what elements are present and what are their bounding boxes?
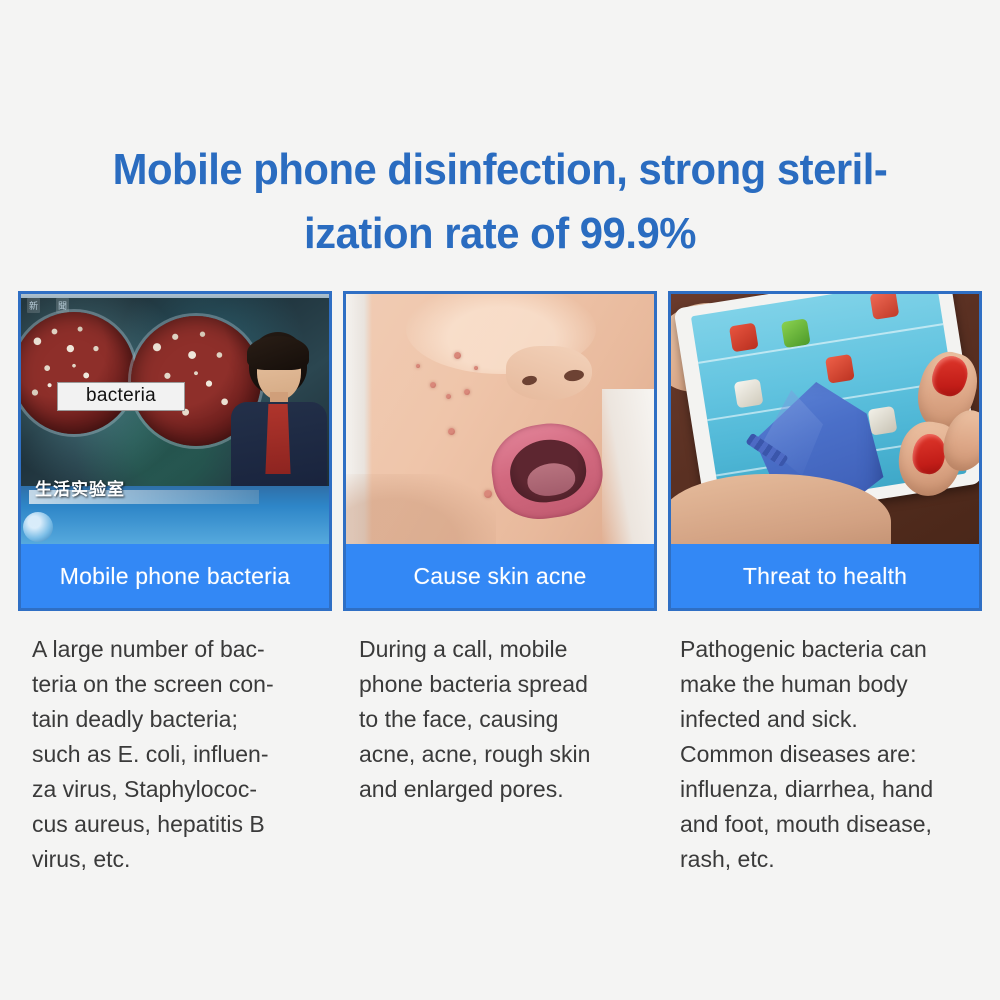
description-line: infected and sick. [680,702,982,737]
headline-line-2: ization rate of 99.9% [25,202,975,266]
description-line: During a call, mobile [359,632,661,667]
description-line: A large number of bac- [32,632,334,667]
description-line: tain deadly bacteria; [32,702,334,737]
description-line: influenza, diarrhea, hand [680,772,982,807]
tongue [525,460,577,498]
acne-spot [446,394,451,399]
description-line: such as E. coli, influen- [32,737,334,772]
app-icon [734,379,764,409]
tv-news-scene: 新 聞 生活实验室 [21,294,329,544]
infographic-page: Mobile phone disinfection, strong steril… [0,0,1000,1000]
news-anchor-figure [223,332,329,512]
page-title: Mobile phone disinfection, strong steril… [25,138,975,266]
description-line: Common diseases are: [680,737,982,772]
description-line: cus aureus, hepatitis B [32,807,334,842]
tv-logo-char-2: 聞 [56,298,69,313]
acne-spot [464,389,470,395]
panel-2-image [346,294,654,544]
petri-dish-left-icon [21,312,135,434]
app-icon [781,318,811,348]
panel-2-caption: Cause skin acne [346,544,654,608]
panel-threat-to-health: Threat to health [668,291,982,611]
background-right [602,389,654,544]
description-line: teria on the screen con- [32,667,334,702]
description-line: rash, etc. [680,842,982,877]
tv-channel-logo-icon: 新 聞 [27,298,69,313]
description-line: to the face, causing [359,702,661,737]
acne-spot [416,364,420,368]
app-icon [729,323,759,353]
description-line: acne, acne, rough skin [359,737,661,772]
news-desk-surface [21,294,329,298]
bacteria-overlay-label: bacteria [57,382,185,411]
acne-spot [430,382,436,388]
panel-mobile-phone-bacteria: 新 聞 生活实验室 [18,291,332,611]
chin-shadow [346,474,496,544]
tv-logo-char-1: 新 [27,298,40,313]
description-line: za virus, Staphylococ- [32,772,334,807]
face-acne-scene [346,294,654,544]
panel-1-caption: Mobile phone bacteria [21,544,329,608]
description-line: Pathogenic bacteria can [680,632,982,667]
description-line: phone bacteria spread [359,667,661,702]
panel-row: 新 聞 生活实验室 [18,291,982,611]
acne-spot [448,428,455,435]
headline-line-1: Mobile phone disinfection, strong steril… [25,138,975,202]
lower-third-text: 生活实验室 [35,475,125,500]
description-line: and foot, mouth disease, [680,807,982,842]
anchor-fringe [247,336,309,370]
description-column-2: During a call, mobile phone bacteria spr… [359,632,661,877]
description-column-1: A large number of bac- teria on the scre… [32,632,334,877]
panel-cause-skin-acne: Cause skin acne [343,291,657,611]
description-line: virus, etc. [32,842,334,877]
mouth-interior [506,435,590,507]
description-row: A large number of bac- teria on the scre… [18,632,982,877]
description-column-3: Pathogenic bacteria can make the human b… [680,632,982,877]
panel-3-image [671,294,979,544]
open-mouth [486,417,608,525]
description-line: and enlarged pores. [359,772,661,807]
app-icon [870,294,900,320]
globe-icon [23,512,53,542]
panel-3-caption: Threat to health [671,544,979,608]
acne-spot [474,366,478,370]
wiping-tablet-scene [671,294,979,544]
app-icon [868,406,898,436]
acne-spot [454,352,461,359]
panel-1-image: 新 聞 生活实验室 [21,294,329,544]
description-line: make the human body [680,667,982,702]
app-icon [825,354,855,384]
